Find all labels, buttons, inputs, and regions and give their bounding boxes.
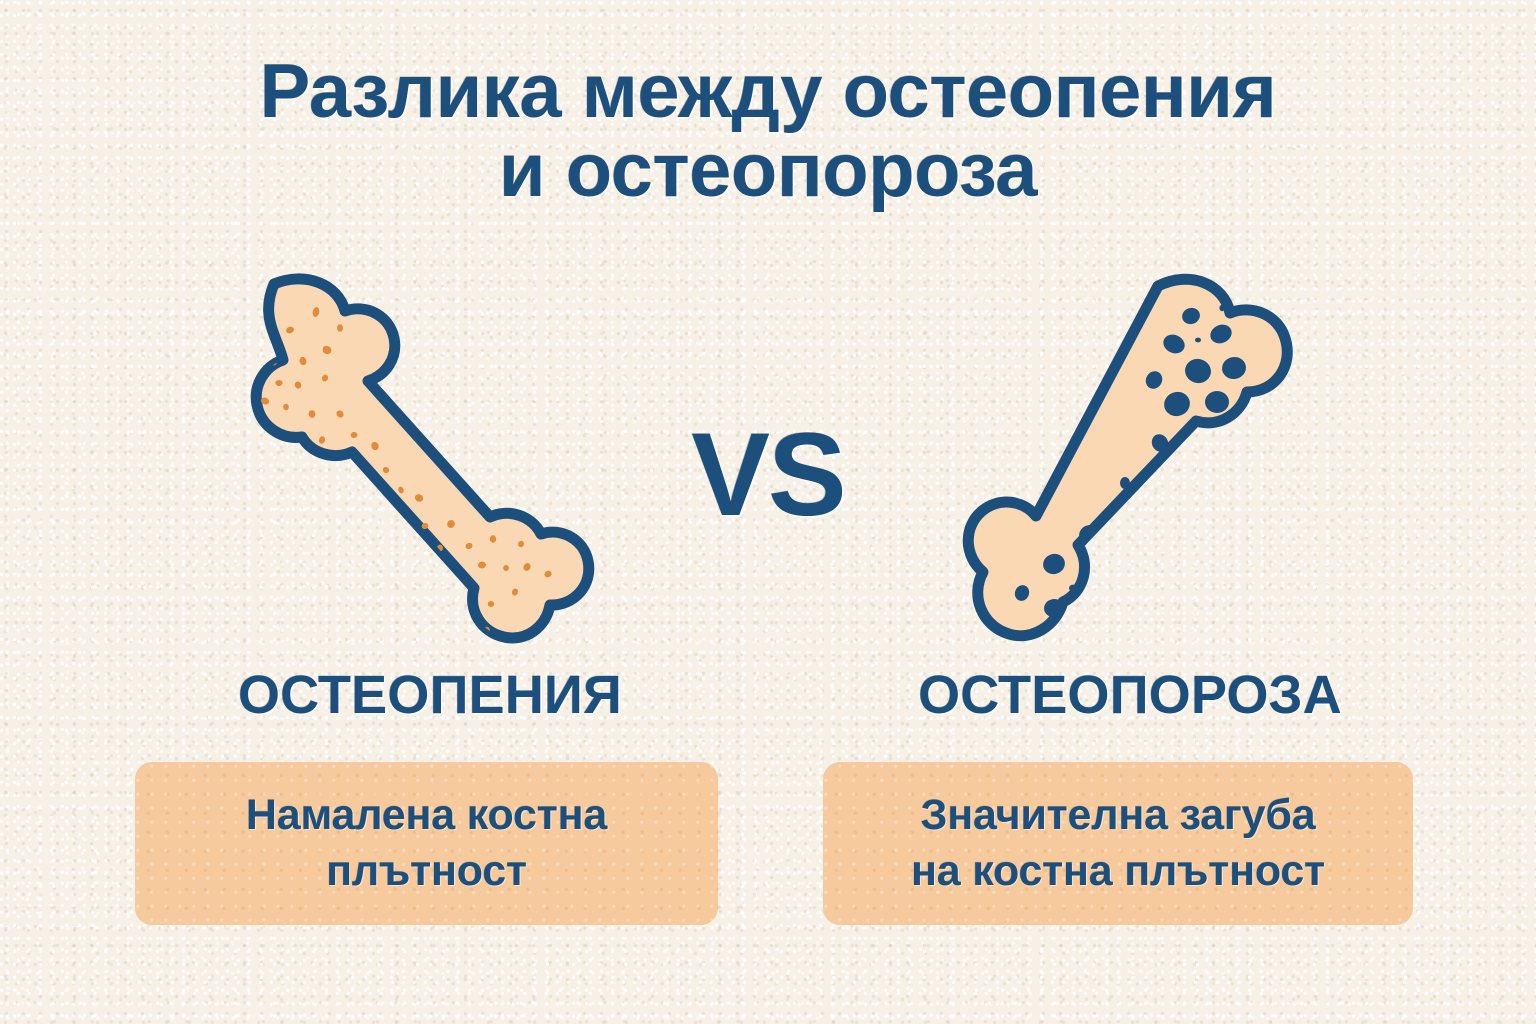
infographic-poster: Разлика между остеопения и остеопороза (0, 0, 1536, 1024)
page-title: Разлика между остеопения и остеопороза (0, 52, 1536, 210)
condition-heading-osteoporosis: ОСТЕОПОРОЗА (800, 668, 1460, 722)
bone-porous-icon (930, 268, 1330, 668)
caption-panel-osteopenia: Намалена костна плътност (135, 762, 718, 925)
page-title-line-1: Разлика между остеопения (0, 52, 1536, 131)
versus-label: VS (608, 416, 928, 534)
condition-heading-osteopenia: ОСТЕОПЕНИЯ (110, 668, 750, 722)
caption-text-osteopenia: Намалена костна плътност (246, 788, 607, 898)
caption-text-osteoporosis: Значителна загуба на костна плътност (911, 788, 1325, 898)
bone-speckled-icon (170, 268, 610, 668)
page-title-line-2: и остеопороза (0, 131, 1536, 210)
caption-panel-osteoporosis: Значителна загуба на костна плътност (823, 762, 1413, 925)
